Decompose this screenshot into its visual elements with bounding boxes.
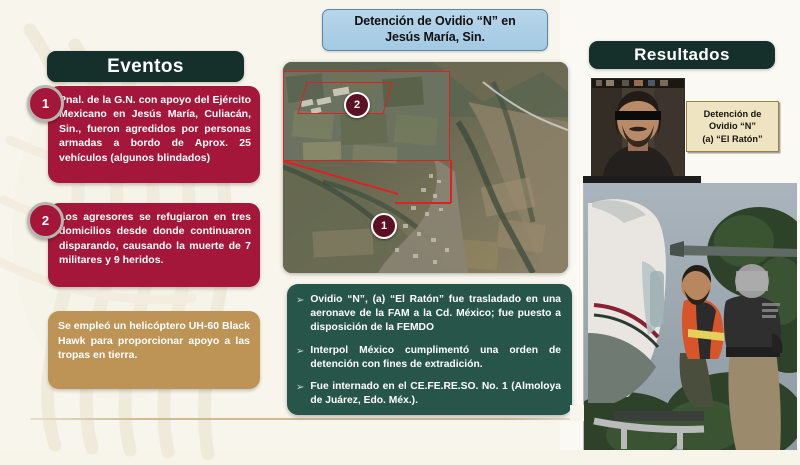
results-bullet-item: ➢ Interpol México cumplimentó una orden …: [296, 344, 561, 372]
helicopter-transfer-photo: [583, 183, 797, 450]
event-badge-2-label: 2: [42, 213, 49, 228]
results-bullet-item: ➢ Ovidio “N”, (a) “El Ratón” fue traslad…: [296, 293, 561, 335]
bullet-arrow-icon: ➢: [296, 380, 304, 408]
helicopter-note-card: Se empleó un helicóptero UH-60 Black Haw…: [48, 311, 260, 389]
slide-canvas: Detención de Ovidio “N” en Jesús María, …: [0, 0, 800, 450]
event-card-1: Pnal. de la G.N. con apoyo del Ejército …: [48, 86, 260, 183]
bottom-divider: [30, 418, 590, 420]
slide-title-line2: Jesús María, Sin.: [385, 30, 485, 44]
bullet-arrow-icon: ➢: [296, 344, 304, 372]
map-leader-line-c: [395, 202, 451, 204]
event-card-2: Los agresores se refugiaron en tres domi…: [48, 203, 260, 287]
helicopter-note-text: Se empleó un helicóptero UH-60 Black Haw…: [58, 320, 250, 361]
event-badge-2: 2: [27, 202, 64, 239]
section-header-eventos: Eventos: [47, 51, 244, 82]
map-marker-2: 2: [344, 92, 370, 118]
section-header-eventos-label: Eventos: [107, 56, 184, 78]
results-bullet-1-text: Ovidio “N”, (a) “El Ratón” fue trasladad…: [310, 293, 561, 335]
results-bullet-item: ➢ Fue internado en el CE.FE.RE.SO. No. 1…: [296, 380, 561, 408]
map-marker-1-label: 1: [381, 220, 387, 232]
detainee-mugshot-photo: [591, 78, 685, 178]
results-bullet-3-text: Fue internado en el CE.FE.RE.SO. No. 1 (…: [310, 380, 561, 408]
event-badge-1-label: 1: [42, 96, 49, 111]
panel-gap-filler: [570, 405, 584, 421]
map-marker-1: 1: [371, 213, 397, 239]
results-bullet-2-text: Interpol México cumplimentó una orden de…: [310, 344, 561, 372]
event-card-2-text: Los agresores se refugiaron en tres domi…: [59, 211, 251, 266]
map-leader-line-b: [450, 160, 452, 203]
detainee-label-line3: (a) “El Ratón”: [702, 134, 762, 144]
map-marker-2-label: 2: [354, 99, 360, 111]
event-badge-1: 1: [27, 85, 64, 122]
section-header-resultados: Resultados: [589, 41, 775, 69]
detainee-label-box: Detención de Ovidio “N” (a) “El Ratón”: [686, 101, 779, 152]
slide-title-line1: Detención de Ovidio “N” en: [354, 14, 515, 28]
section-header-resultados-label: Resultados: [634, 45, 730, 65]
detainee-label-line1: Detención de: [704, 109, 762, 119]
bullet-arrow-icon: ➢: [296, 293, 304, 335]
event-card-1-text: Pnal. de la G.N. con apoyo del Ejército …: [59, 94, 251, 164]
detainee-label-line2: Ovidio “N”: [709, 121, 756, 131]
slide-title: Detención de Ovidio “N” en Jesús María, …: [322, 9, 548, 51]
results-bullet-panel: ➢ Ovidio “N”, (a) “El Ratón” fue traslad…: [287, 284, 572, 415]
